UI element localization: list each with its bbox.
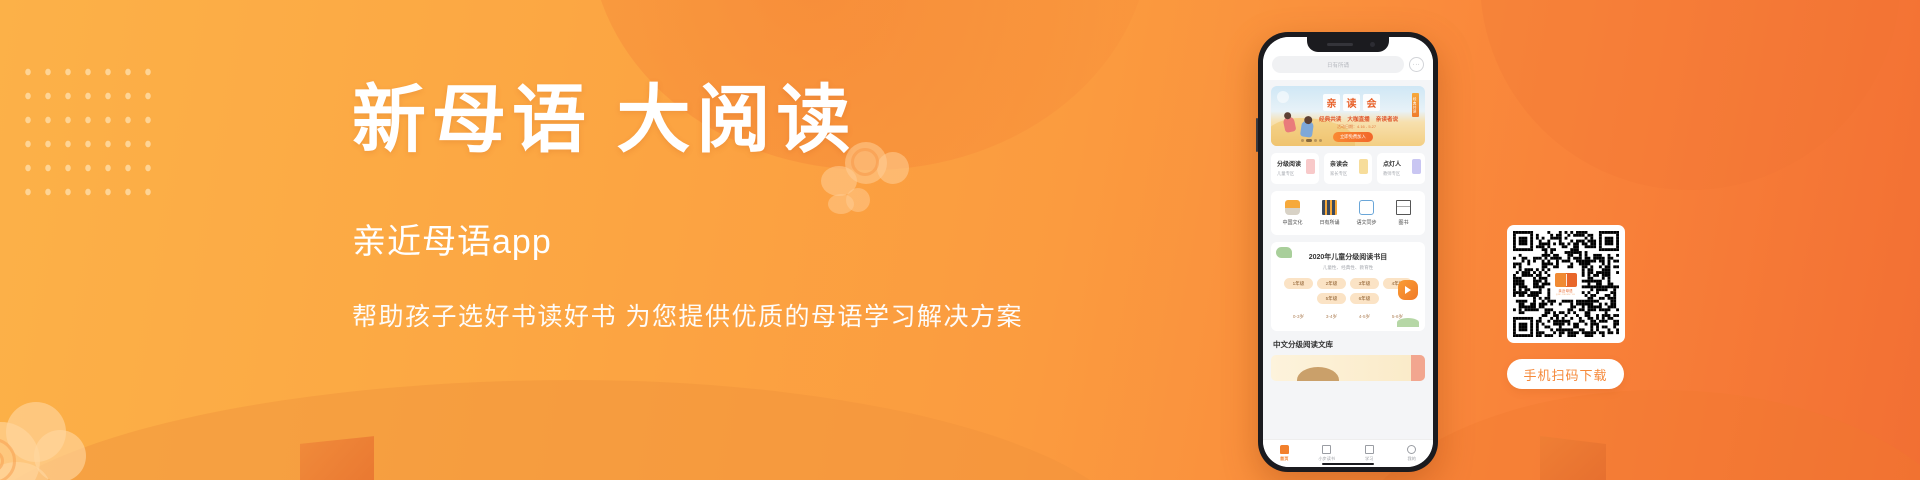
entry-card[interactable]: 点灯人 教师专区	[1377, 153, 1425, 184]
hero-subtitle-row: 经典共读 大咖直播 亲读者说	[1319, 115, 1398, 123]
grade-chip-group: 1年级 2年级 3年级 4年级 5年级 6年级	[1278, 278, 1418, 304]
entry-card-row: 分级阅读 儿童专区 亲读会 家长专区 点灯人 教师专区	[1271, 153, 1425, 184]
bookmark-icon	[1412, 159, 1421, 174]
booklist-subtitle: 儿童性、经典性、教育性	[1278, 265, 1418, 271]
sync-icon	[1359, 200, 1374, 215]
home-icon	[1280, 445, 1289, 454]
search-input[interactable]: 日有所诵	[1272, 56, 1404, 73]
hero-date: 活动日期：4.16 - 5.27	[1337, 124, 1376, 130]
background-blob-top-right	[1480, 0, 1900, 190]
hero-title-char: 亲	[1323, 94, 1340, 111]
tab-label: 小步读书	[1306, 456, 1349, 462]
play-icon[interactable]	[1398, 280, 1418, 300]
hero-banner[interactable]: 亲 读 会 经典共读 经典共读 大咖直播 亲读者说 活动日期：4.16 - 5.…	[1271, 86, 1425, 146]
promo-arc	[1297, 367, 1339, 381]
phone-screen: 日有所诵 ··· 亲 读 会 经典共读 经典共读 大咖直播 亲读者说	[1263, 37, 1433, 467]
promo-tag	[1411, 355, 1425, 381]
carousel-dots[interactable]	[1301, 139, 1322, 142]
library-icon	[1396, 200, 1411, 215]
background-hill-left	[0, 380, 1140, 480]
quick-nav-row: 中国文化 日有所诵 语文同步 图书	[1271, 191, 1425, 235]
app-name-subtitle: 亲近母语app	[352, 214, 1072, 263]
bookmark-icon	[1306, 159, 1315, 174]
cloud-decoration-bottom-left	[0, 402, 112, 480]
hero-title-char: 会	[1363, 94, 1380, 111]
home-indicator	[1322, 463, 1374, 466]
hero-title: 亲 读 会	[1323, 94, 1380, 111]
sun-icon	[1277, 91, 1289, 103]
vase-icon	[1285, 200, 1300, 215]
age-chip[interactable]: 0-3岁	[1284, 311, 1313, 322]
age-chip[interactable]: 4-5岁	[1350, 311, 1379, 322]
bottom-tab-bar: 首页 小步读书 学习 我的	[1263, 439, 1433, 467]
tab-home[interactable]: 首页	[1263, 445, 1306, 462]
promo-banner: 新母语 大阅读 亲近母语app 帮助孩子选好书读好书 为您提供优质的母语学习解决…	[0, 0, 1920, 480]
qr-center-logo: 亲近母语 QIN JIN MU YU	[1551, 269, 1581, 299]
quick-nav-label: 中国文化	[1274, 219, 1311, 226]
age-chip[interactable]: 3-4岁	[1317, 311, 1346, 322]
leaf-icon	[1276, 247, 1292, 258]
grade-chip[interactable]: 2年级	[1317, 278, 1346, 289]
section-title: 中文分级阅读文库	[1273, 339, 1433, 350]
tab-profile[interactable]: 我的	[1391, 445, 1434, 462]
booklist-card: 2020年儿童分级阅读书目 儿童性、经典性、教育性 1年级 2年级 3年级 4年…	[1271, 242, 1425, 331]
booklist-title: 2020年儿童分级阅读书目	[1278, 252, 1418, 262]
background-cube-left	[300, 436, 374, 480]
tab-study[interactable]: 学习	[1348, 445, 1391, 462]
tab-reading[interactable]: 小步读书	[1306, 445, 1349, 462]
download-button[interactable]: 手机扫码下载	[1507, 359, 1624, 389]
bookmark-icon	[1359, 159, 1368, 174]
tab-label: 学习	[1348, 456, 1391, 462]
leaf-icon	[1397, 318, 1419, 327]
book-icon	[1322, 200, 1337, 215]
grade-chip[interactable]: 5年级	[1317, 293, 1346, 304]
quick-nav-item[interactable]: 图书	[1385, 200, 1422, 226]
grade-chip[interactable]: 3年级	[1350, 278, 1379, 289]
hero-subtitle-item: 大咖直播	[1347, 115, 1369, 123]
phone-notch	[1307, 37, 1389, 52]
tab-label: 首页	[1263, 456, 1306, 462]
message-icon[interactable]: ···	[1409, 57, 1424, 72]
child-illustration-2	[1300, 120, 1314, 138]
profile-icon	[1407, 445, 1416, 454]
phone-mockup: 日有所诵 ··· 亲 读 会 经典共读 经典共读 大咖直播 亲读者说	[1258, 32, 1438, 472]
qr-code: 亲近母语 QIN JIN MU YU	[1507, 225, 1625, 343]
page-title: 新母语 大阅读	[352, 82, 1072, 162]
quick-nav-item[interactable]: 日有所诵	[1311, 200, 1348, 226]
tagline: 帮助孩子选好书读好书 为您提供优质的母语学习解决方案	[352, 297, 1072, 333]
grade-chip[interactable]: 6年级	[1350, 293, 1379, 304]
qr-logo-subtitle: QIN JIN MU YU	[1556, 294, 1575, 296]
hero-title-char: 读	[1343, 94, 1360, 111]
hero-subtitle-item: 经典共读	[1319, 115, 1341, 123]
search-row: 日有所诵 ···	[1272, 56, 1424, 73]
hero-ribbon: 经典共读	[1412, 93, 1419, 117]
quick-nav-item[interactable]: 中国文化	[1274, 200, 1311, 226]
entry-card[interactable]: 亲读会 家长专区	[1324, 153, 1372, 184]
hero-join-button[interactable]: 立即免费加入	[1333, 132, 1373, 142]
quick-nav-label: 语文同步	[1348, 219, 1385, 226]
qr-logo-name: 亲近母语	[1558, 288, 1572, 293]
background-cube-right	[1540, 436, 1606, 480]
tab-label: 我的	[1391, 456, 1434, 462]
book-logo-icon	[1555, 273, 1577, 287]
hero-subtitle-item: 亲读者说	[1376, 115, 1398, 123]
copy-block: 新母语 大阅读 亲近母语app 帮助孩子选好书读好书 为您提供优质的母语学习解决…	[352, 82, 1072, 333]
quick-nav-label: 日有所诵	[1311, 219, 1348, 226]
grade-chip[interactable]: 1年级	[1284, 278, 1313, 289]
doc-icon	[1322, 445, 1331, 454]
qr-section: 亲近母语 QIN JIN MU YU 手机扫码下载	[1483, 225, 1648, 389]
library-promo-card[interactable]	[1271, 355, 1425, 381]
dot-grid-pattern	[18, 60, 158, 212]
entry-card[interactable]: 分级阅读 儿童专区	[1271, 153, 1319, 184]
quick-nav-item[interactable]: 语文同步	[1348, 200, 1385, 226]
quick-nav-label: 图书	[1385, 219, 1422, 226]
study-icon	[1365, 445, 1374, 454]
